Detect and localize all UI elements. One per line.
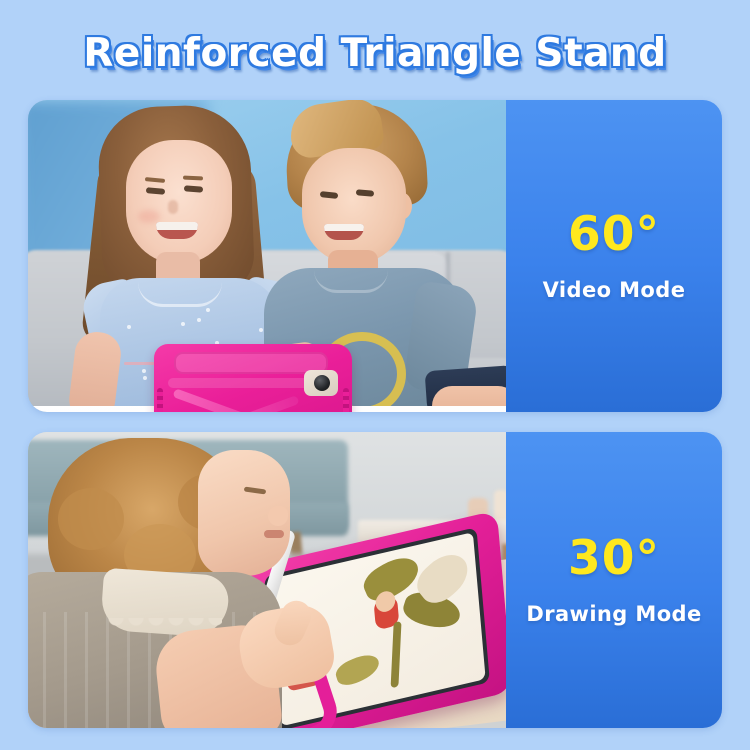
- page-title-text: Reinforced Triangle Stand: [83, 31, 666, 76]
- angle-value-video: 60°: [568, 211, 660, 258]
- case-ridge-left: [157, 388, 163, 412]
- tablet-case-rear: [154, 344, 352, 412]
- boy-smile: [324, 224, 364, 240]
- photo-drawing-mode: [28, 432, 506, 728]
- angle-value-drawing: 30°: [568, 535, 660, 582]
- girl-smile: [156, 222, 198, 239]
- mode-label-drawing: Drawing Mode: [526, 602, 701, 626]
- artwork-stem: [391, 621, 402, 687]
- artwork-leaf-small: [334, 649, 382, 690]
- dress-pleat: [43, 612, 46, 728]
- dress-dot: [143, 376, 147, 380]
- boy-tshirt-collar: [314, 270, 388, 293]
- info-panel-drawing-mode: 30° Drawing Mode: [506, 432, 722, 728]
- camera-lens: [314, 375, 330, 391]
- toddler-nose: [268, 506, 288, 526]
- mode-label-video: Video Mode: [543, 278, 686, 302]
- decor-vase-2: [494, 490, 506, 524]
- girl-eye-right: [184, 185, 203, 192]
- product-feature-page: Reinforced Triangle Stand: [0, 0, 750, 750]
- case-ridge-right: [343, 388, 349, 412]
- info-panel-video-mode: 60° Video Mode: [506, 100, 722, 412]
- dress-dot: [127, 325, 131, 329]
- girl-teeth: [156, 222, 198, 230]
- dress-dot: [181, 322, 185, 326]
- feature-card-video-mode: 60° Video Mode: [28, 100, 722, 412]
- boy-teeth: [324, 224, 364, 231]
- camera-cutout: [304, 370, 338, 396]
- dress-dot: [259, 328, 263, 332]
- dress-dot: [197, 318, 201, 322]
- feature-card-drawing-mode: 30° Drawing Mode: [28, 432, 722, 728]
- dress-pleat: [64, 612, 67, 728]
- girl-nose: [168, 200, 178, 214]
- girl-face: [126, 140, 232, 264]
- photo-video-mode: [28, 100, 506, 412]
- hair-curl: [58, 488, 124, 550]
- dress-dot: [206, 308, 210, 312]
- toddler-lips: [264, 530, 284, 538]
- dress-pleat: [85, 612, 88, 728]
- case-handle: [174, 352, 328, 374]
- dress-dot: [142, 369, 146, 373]
- page-title: Reinforced Triangle Stand: [0, 24, 750, 82]
- girl-dress-collar: [138, 282, 222, 307]
- boy-face: [302, 148, 406, 264]
